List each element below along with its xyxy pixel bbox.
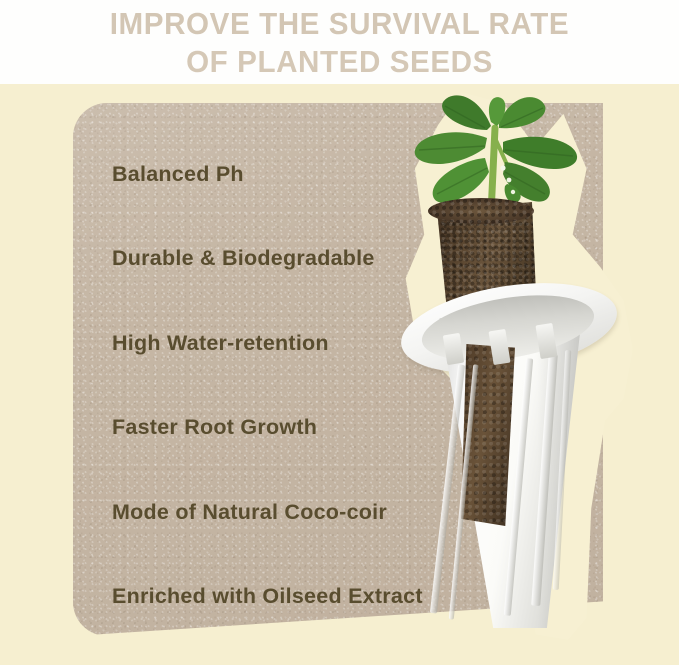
infographic-canvas: Balanced Ph Durable & Biodegradable High… — [0, 0, 679, 665]
header-banner: IMPROVE THE SURVIVAL RATE OF PLANTED SEE… — [0, 0, 679, 84]
page-title-line-1: IMPROVE THE SURVIVAL RATE — [10, 5, 669, 43]
soil-plug-top-surface — [428, 198, 534, 224]
benefit-label: Mode of Natural Coco-coir — [112, 500, 387, 525]
page-title-line-2: OF PLANTED SEEDS — [10, 43, 669, 81]
product-image — [383, 86, 679, 646]
benefit-label: Balanced Ph — [112, 162, 244, 187]
benefit-label: Durable & Biodegradable — [112, 246, 375, 271]
basket-rib — [430, 364, 465, 613]
benefit-label: Enriched with Oilseed Extract — [112, 584, 423, 609]
benefit-label: Faster Root Growth — [112, 415, 317, 440]
benefit-label: High Water-retention — [112, 331, 329, 356]
